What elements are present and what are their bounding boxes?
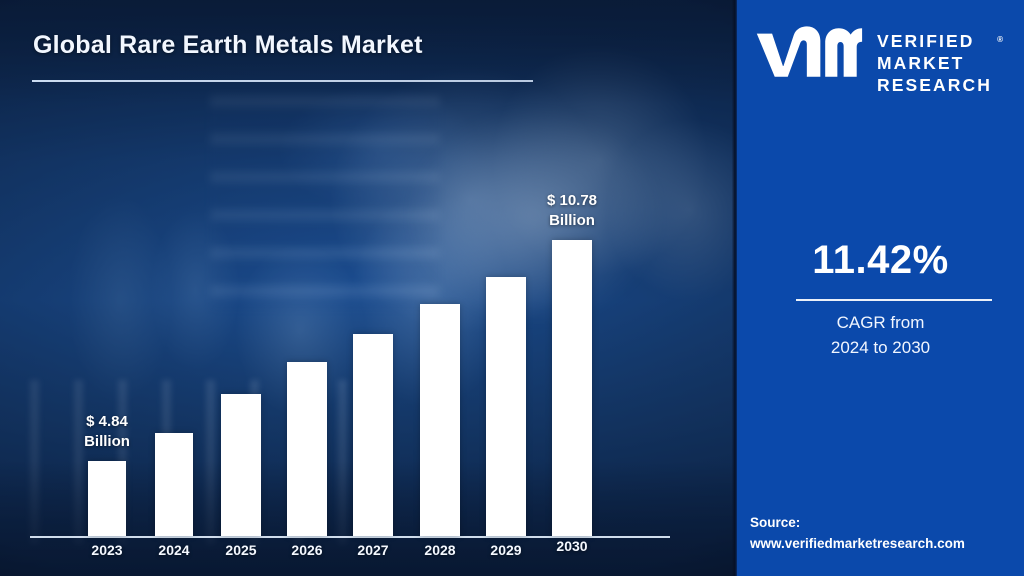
bar-2024 [155, 433, 193, 536]
source-label: Source: [750, 512, 1024, 533]
bar-2028 [420, 304, 460, 536]
bar-value-amount-2023: $ 4.84 [37, 412, 177, 432]
brand-logo-line1: VERIFIED [877, 30, 992, 52]
brand-logo[interactable]: VERIFIED MARKET RESEARCH ® [755, 26, 992, 96]
bar-2030 [552, 240, 592, 536]
brand-panel: VERIFIED MARKET RESEARCH ® 11.42% CAGR f… [737, 0, 1024, 576]
cagr-divider [796, 299, 992, 301]
bar-2023 [88, 461, 126, 536]
infographic-root: Global Rare Earth Metals Market $ 4.84Bi… [0, 0, 1024, 576]
bar-2027 [353, 334, 393, 536]
bar-value-label-2030: $ 10.78Billion [502, 191, 642, 231]
brand-logo-line2: MARKET [877, 52, 992, 74]
bar-2026 [287, 362, 327, 536]
bar-chart-plot: $ 4.84Billion202320242025202620272028202… [0, 0, 737, 576]
x-axis-label-2030: 2030 [527, 538, 617, 554]
vmr-monogram-icon [755, 26, 863, 88]
chart-panel: Global Rare Earth Metals Market $ 4.84Bi… [0, 0, 737, 576]
cagr-caption-line1: CAGR from [737, 310, 1024, 335]
bar-2029 [486, 277, 526, 536]
bar-2025 [221, 394, 261, 536]
cagr-caption: CAGR from 2024 to 2030 [737, 310, 1024, 360]
brand-logo-line3: RESEARCH [877, 74, 992, 96]
source-block: Source: www.verifiedmarketresearch.com [750, 512, 1024, 554]
bar-value-unit-2030: Billion [502, 211, 642, 231]
cagr-value: 11.42% [737, 238, 1024, 283]
bar-value-amount-2030: $ 10.78 [502, 191, 642, 211]
cagr-caption-line2: 2024 to 2030 [737, 335, 1024, 360]
registered-trademark-icon: ® [997, 29, 1003, 51]
brand-logo-text: VERIFIED MARKET RESEARCH ® [877, 26, 992, 96]
source-url[interactable]: www.verifiedmarketresearch.com [750, 533, 1024, 554]
